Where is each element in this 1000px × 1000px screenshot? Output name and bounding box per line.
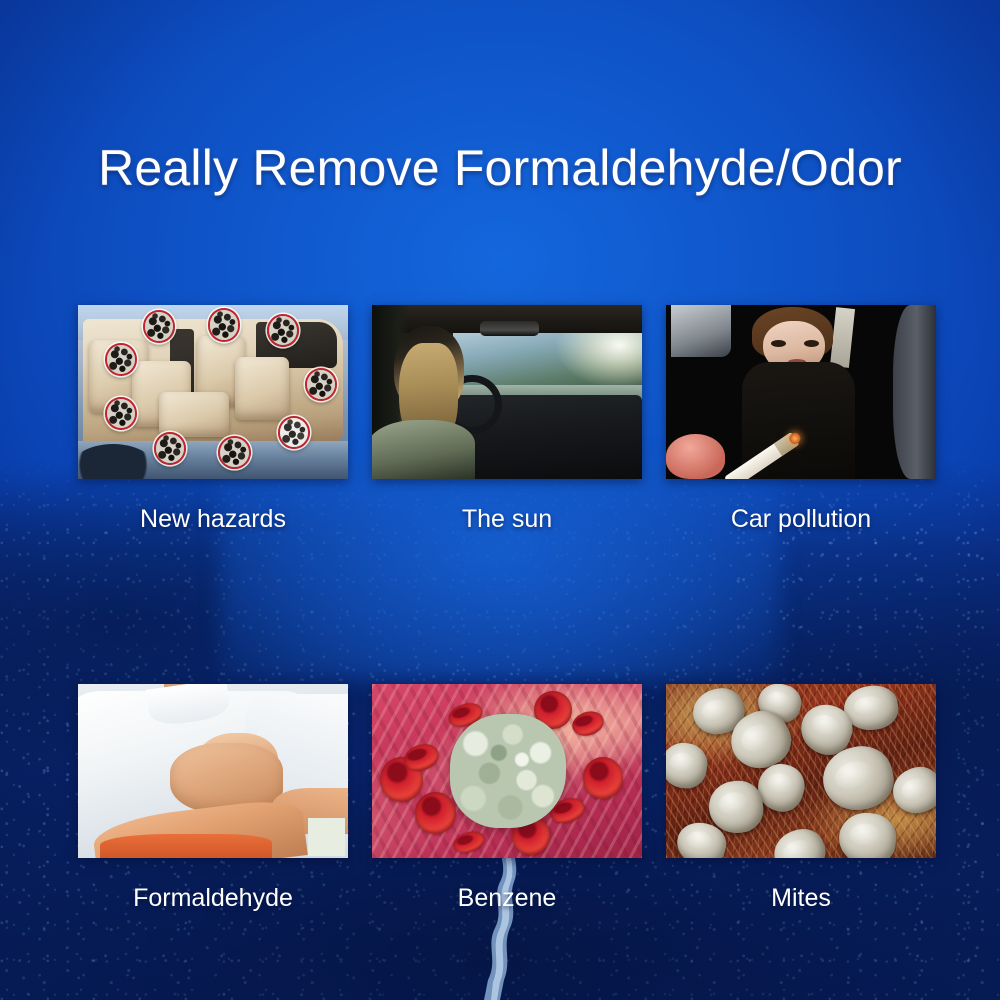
hazard-cell-formaldehyde[interactable]: Formaldehyde <box>78 684 348 913</box>
hazard-row-1: New hazards The sun <box>78 305 936 534</box>
hazard-caption: Formaldehyde <box>78 884 348 913</box>
page-title: Really Remove Formaldehyde/Odor <box>0 139 1000 197</box>
hazard-caption: Benzene <box>372 884 642 913</box>
chest-pain-photo <box>78 684 348 858</box>
hazard-row-2: Formaldehyde Benzene <box>78 684 936 913</box>
dust-mites-microscope-photo <box>666 684 936 858</box>
hazard-caption: New hazards <box>78 505 348 534</box>
hazard-grid: New hazards The sun <box>78 305 936 913</box>
car-interior-hazards-photo <box>78 305 348 479</box>
driver-sun-glare-photo <box>372 305 642 479</box>
hazard-caption: Mites <box>666 884 936 913</box>
hazard-cell-new-hazards[interactable]: New hazards <box>78 305 348 534</box>
hazard-cell-mites[interactable]: Mites <box>666 684 936 913</box>
hazard-cell-benzene[interactable]: Benzene <box>372 684 642 913</box>
blood-cells-cancer-cell-photo <box>372 684 642 858</box>
hazard-caption: Car pollution <box>666 505 936 534</box>
hazard-cell-the-sun[interactable]: The sun <box>372 305 642 534</box>
child-cigarette-smoke-photo <box>666 305 936 479</box>
hazard-cell-car-pollution[interactable]: Car pollution <box>666 305 936 534</box>
hazard-caption: The sun <box>372 505 642 534</box>
